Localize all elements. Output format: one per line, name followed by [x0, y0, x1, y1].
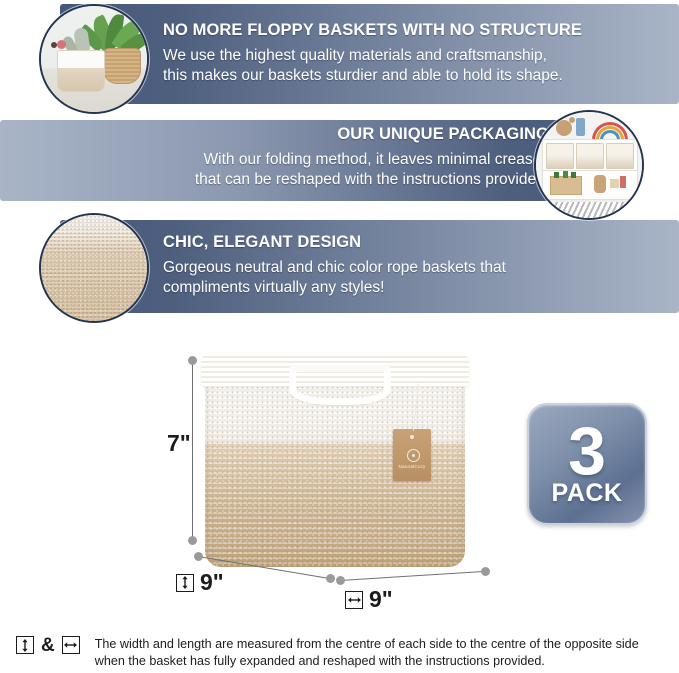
depth-dim-dot-right: [326, 574, 335, 583]
banner-body-line-1: We use the highest quality materials and…: [163, 46, 582, 66]
feature-banner-packaging: OUR UNIQUE PACKAGING With our folding me…: [0, 120, 679, 201]
hang-tag: NaturalCozy: [393, 429, 431, 481]
width-dim-dot-left: [336, 576, 345, 585]
horizontal-arrow-icon: [345, 591, 363, 609]
banner-body-line-2: compliments virtually any styles!: [163, 278, 506, 298]
height-dim-dot-bottom: [188, 536, 197, 545]
horizontal-arrow-icon: [62, 636, 80, 654]
woven-rope-storage-basket: NaturalCozy: [205, 357, 465, 567]
footnote-line-1: The width and length are measured from t…: [95, 637, 639, 651]
brand-name: NaturalCozy: [393, 464, 431, 469]
product-infographic: NO MORE FLOPPY BASKETS WITH NO STRUCTURE…: [0, 0, 679, 673]
banner-body-line-1: Gorgeous neutral and chic color rope bas…: [163, 258, 506, 278]
banner-text-block: OUR UNIQUE PACKAGING With our folding me…: [195, 125, 549, 190]
tag-hole: [410, 435, 414, 439]
banner-headline: CHIC, ELEGANT DESIGN: [163, 233, 506, 251]
pack-word: PACK: [552, 479, 623, 508]
rope-texture-photo: [39, 213, 149, 323]
feature-banner-design: CHIC, ELEGANT DESIGN Gorgeous neutral an…: [0, 220, 679, 313]
feature-banner-structure: NO MORE FLOPPY BASKETS WITH NO STRUCTURE…: [0, 4, 679, 104]
height-dim-dot-top: [188, 356, 197, 365]
brand-logo-icon: [407, 449, 420, 462]
banner-body-line-2: this makes our baskets sturdier and able…: [163, 66, 582, 86]
pack-count: 3: [568, 422, 606, 480]
banner-text-block: CHIC, ELEGANT DESIGN Gorgeous neutral an…: [163, 233, 506, 298]
vertical-arrow-icon: [16, 636, 34, 654]
height-dimension-line: [192, 360, 193, 540]
banner-text-block: NO MORE FLOPPY BASKETS WITH NO STRUCTURE…: [163, 21, 582, 86]
measurement-footnote: & The width and length are measured from…: [16, 636, 639, 670]
plants-and-basket-photo: [39, 4, 149, 114]
banner-headline: OUR UNIQUE PACKAGING: [195, 125, 549, 143]
width-dimension-chip: 9": [345, 586, 393, 613]
footnote-line-2: when the basket has fully expanded and r…: [95, 654, 545, 668]
depth-dimension-value: 9": [200, 569, 224, 596]
height-dimension-label: 7": [167, 430, 191, 457]
depth-dimension-chip: 9": [176, 569, 224, 596]
width-dim-dot-right: [481, 567, 490, 576]
footnote-text: The width and length are measured from t…: [95, 636, 639, 670]
banner-body-line-2: that can be reshaped with the instructio…: [195, 170, 549, 190]
width-dimension-line: [340, 571, 486, 582]
banner-headline: NO MORE FLOPPY BASKETS WITH NO STRUCTURE: [163, 21, 582, 39]
three-pack-badge: 3 PACK: [527, 403, 647, 525]
width-dimension-value: 9": [369, 586, 393, 613]
vertical-arrow-icon: [176, 574, 194, 592]
basket-handle: [289, 365, 391, 405]
ampersand: &: [41, 636, 55, 656]
shelf-with-bins-photo: [534, 110, 644, 220]
banner-body-line-1: With our folding method, it leaves minim…: [195, 150, 549, 170]
depth-dim-dot-left: [194, 552, 203, 561]
